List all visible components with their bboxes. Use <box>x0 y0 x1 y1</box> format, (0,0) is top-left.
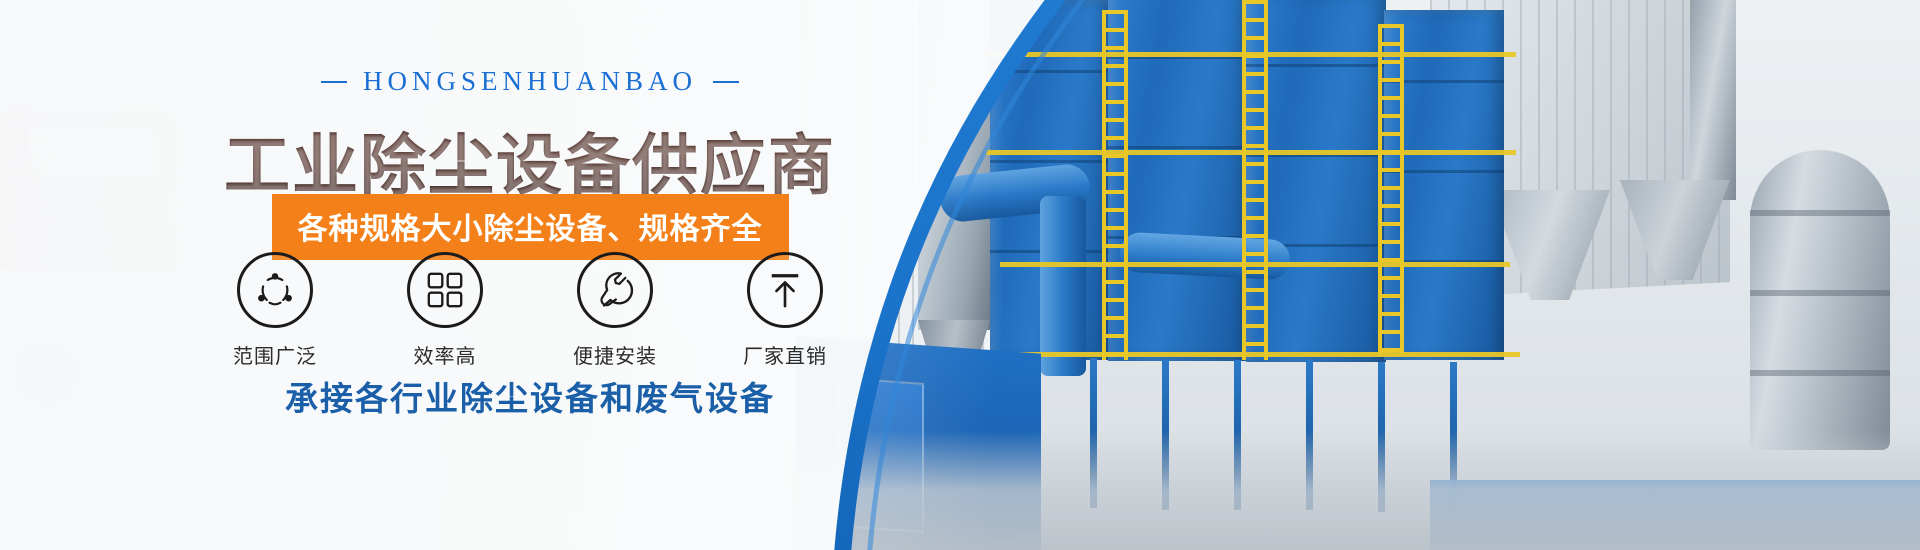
banner-tagline: 承接各行业除尘设备和废气设备 <box>0 372 1060 420</box>
highlight-bar: 各种规格大小除尘设备、规格齐全 <box>272 194 789 260</box>
feature-list: 范围广泛 效率高 <box>0 252 1060 369</box>
eyebrow-text: HONGSENHUANBAO <box>363 66 697 97</box>
feature-label: 范围广泛 <box>221 340 329 369</box>
grid-squares-icon <box>427 272 463 308</box>
eyebrow-dash-right <box>713 81 739 83</box>
feature-item-efficiency[interactable]: 效率高 <box>391 252 499 369</box>
eyebrow-dash-left <box>321 81 347 83</box>
feature-icon-circle <box>237 252 313 328</box>
upload-arrow-icon <box>767 271 803 309</box>
hero-banner: 环保 <box>0 0 1920 550</box>
feature-item-scope[interactable]: 范围广泛 <box>221 252 329 369</box>
feature-item-installation[interactable]: 便捷安装 <box>561 252 669 369</box>
wrench-icon <box>595 270 635 310</box>
feature-icon-circle <box>747 252 823 328</box>
feature-item-direct-sales[interactable]: 厂家直销 <box>731 252 839 369</box>
share-nodes-icon <box>255 270 295 310</box>
banner-content: HONGSENHUANBAO 工业除尘设备供应商 各种规格大小除尘设备、规格齐全 <box>0 0 1060 550</box>
feature-icon-circle <box>407 252 483 328</box>
feature-label: 效率高 <box>391 340 499 369</box>
brand-eyebrow: HONGSENHUANBAO <box>0 66 1060 97</box>
feature-icon-circle <box>577 252 653 328</box>
feature-label: 便捷安装 <box>561 340 669 369</box>
highlight-bar-wrap: 各种规格大小除尘设备、规格齐全 <box>0 194 1060 260</box>
feature-label: 厂家直销 <box>731 340 839 369</box>
